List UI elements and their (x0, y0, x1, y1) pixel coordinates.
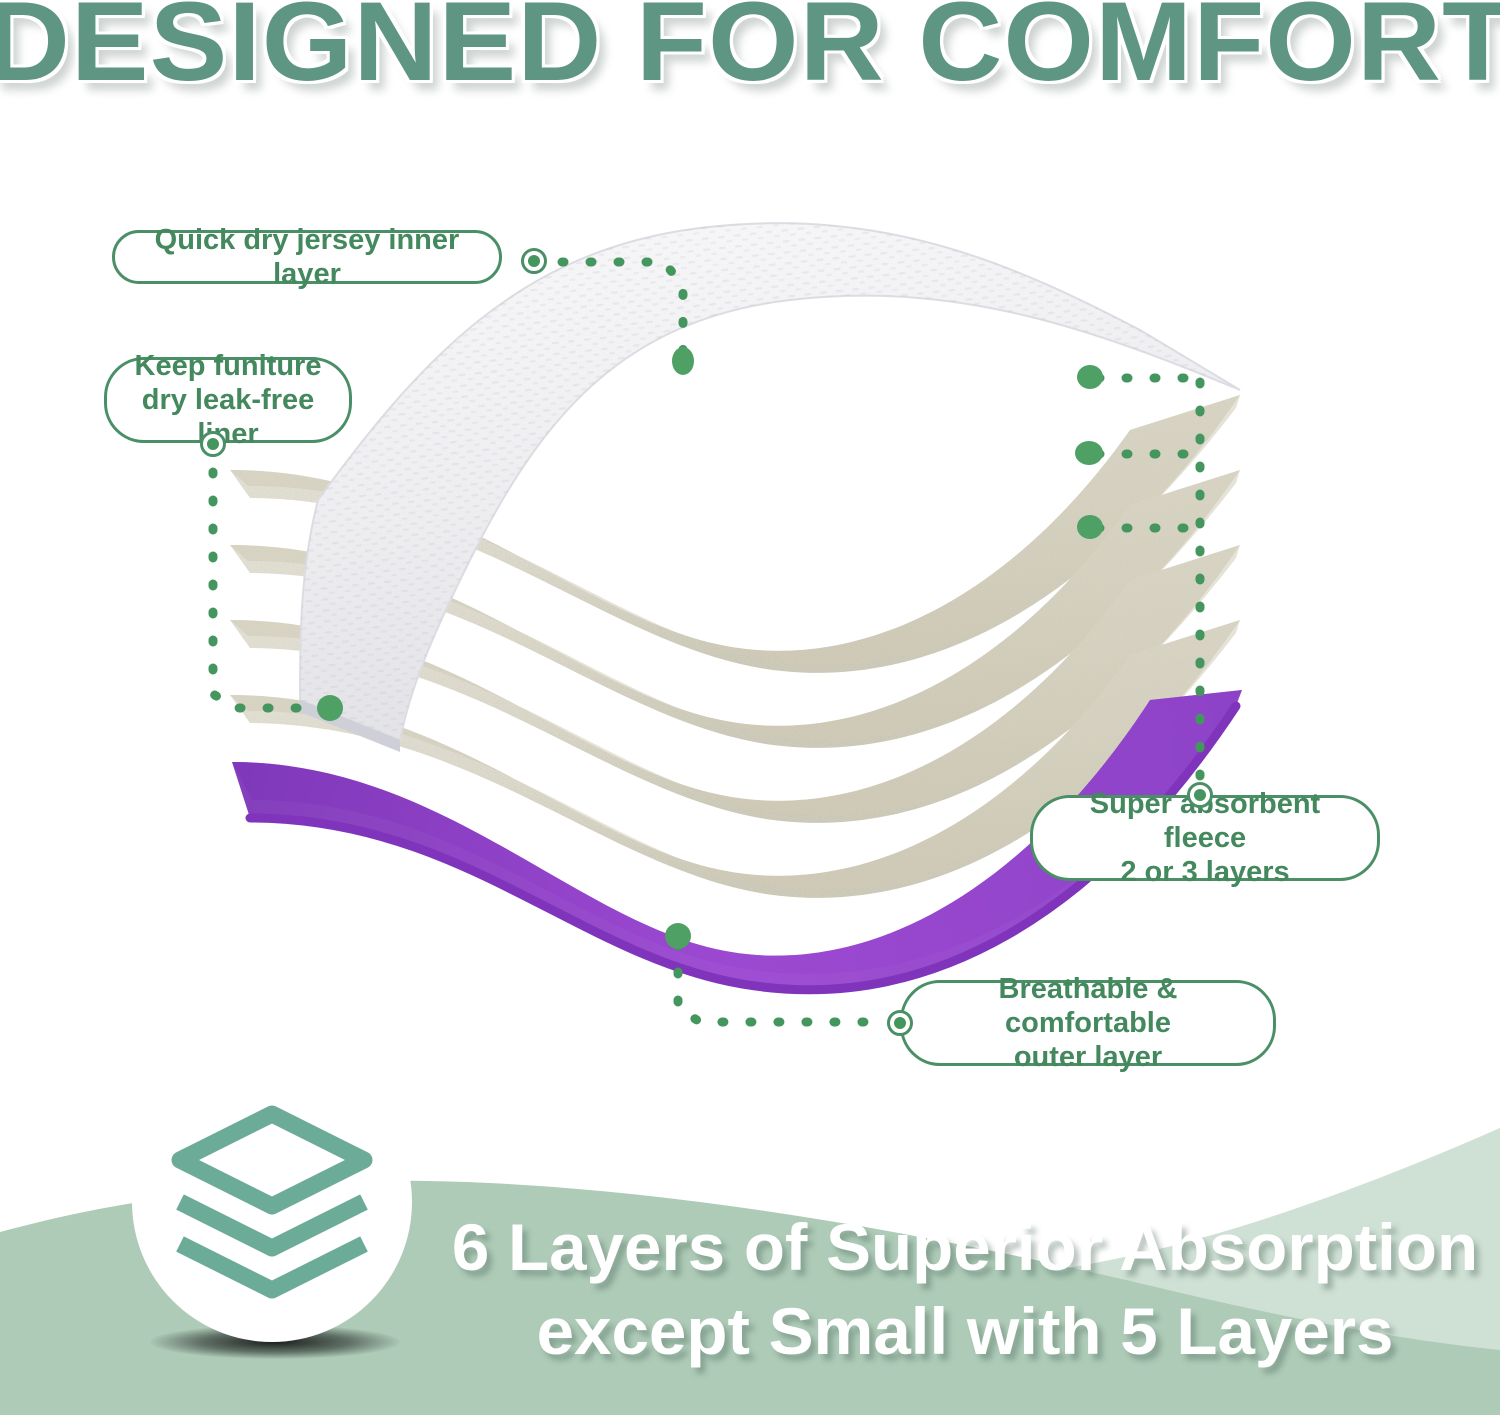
endpoint-fleece-2 (1075, 441, 1103, 465)
infographic-canvas: DESIGNED FOR COMFORT (0, 0, 1500, 1415)
layers-badge (132, 1062, 412, 1342)
callout-leak-free-liner[interactable]: Keep funiture dry leak-free liner (104, 357, 352, 443)
endpoint-fleece-1 (1077, 365, 1103, 389)
endpoint-jersey (672, 347, 694, 375)
layers-stack-icon (168, 1102, 376, 1302)
callout-super-absorbent-fleece[interactable]: Super absorbent fleece 2 or 3 layers (1030, 795, 1380, 881)
callout-node-super-absorbent-fleece (1187, 782, 1213, 808)
callout-node-leak-free-liner (200, 431, 226, 457)
banner-headline: 6 Layers of Superior Absorption except S… (419, 1205, 1500, 1373)
callout-quick-dry-jersey[interactable]: Quick dry jersey inner layer (112, 230, 502, 284)
endpoint-fleece-3 (1077, 515, 1103, 539)
callout-node-quick-dry-jersey (521, 248, 547, 274)
endpoint-liner (317, 695, 343, 721)
endpoint-outer (665, 923, 691, 949)
